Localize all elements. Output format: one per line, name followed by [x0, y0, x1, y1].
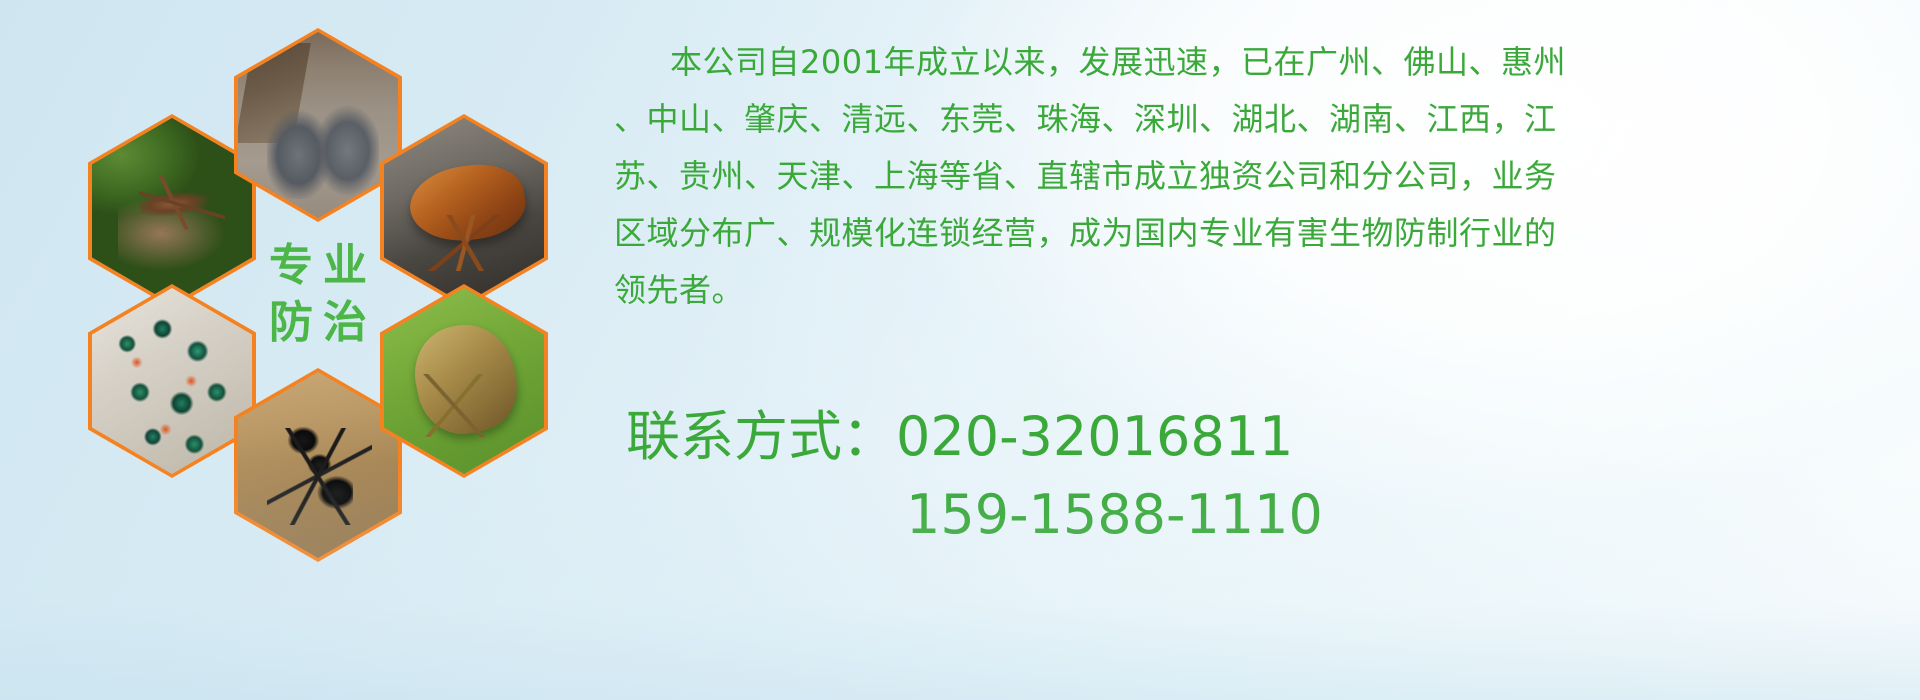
hex-inner: [92, 288, 252, 474]
intro-line-1-text: 本公司自2001年成立以来，发展迅速，已在广州、佛山、惠州: [670, 43, 1566, 81]
rats-icon: [238, 32, 398, 218]
intro-line-5: 领先者。: [614, 262, 1884, 319]
hex-cell-badge: 专业 防治: [234, 198, 402, 392]
contact-primary-phone[interactable]: 联系方式：020-32016811: [626, 398, 1916, 476]
hex-inner: [384, 118, 544, 304]
hex-inner: [238, 372, 398, 558]
promo-banner: 专业 防治 本公司自2001年成立以来，发展迅速，已在广州、佛山、惠州 、中山、…: [0, 0, 1920, 700]
flies-icon: [92, 288, 252, 474]
company-intro: 本公司自2001年成立以来，发展迅速，已在广州、佛山、惠州 、中山、肇庆、清远、…: [614, 34, 1884, 319]
intro-line-4: 区域分布广、规模化连锁经营，成为国内专业有害生物防制行业的: [614, 205, 1884, 262]
badge-line-1: 专业: [259, 241, 377, 292]
hex-inner: [92, 118, 252, 304]
contact-secondary-phone[interactable]: 159-1588-1110: [626, 476, 1916, 554]
hex-inner: 专业 防治: [238, 202, 398, 388]
hex-inner: [384, 288, 544, 474]
intro-line-2: 、中山、肇庆、清远、东莞、珠海、深圳、湖北、湖南、江西，江: [614, 91, 1884, 148]
intro-line-3: 苏、贵州、天津、上海等省、直辖市成立独资公司和分公司，业务: [614, 148, 1884, 205]
hex-cell-mosquito-photo: [88, 114, 256, 308]
stink-bug-icon: [384, 288, 544, 474]
hex-cell-cockroach-photo: [380, 114, 548, 308]
hex-cell-stink-bug-photo: [380, 284, 548, 478]
hexagon-collage: 专业 防治: [88, 6, 588, 566]
cockroach-icon: [384, 118, 544, 304]
intro-line-1: 本公司自2001年成立以来，发展迅速，已在广州、佛山、惠州: [614, 34, 1884, 91]
hex-inner: [238, 32, 398, 218]
ant-icon: [238, 372, 398, 558]
mosquito-icon: [92, 118, 252, 304]
badge-text: 专业 防治: [238, 202, 398, 388]
hex-cell-ant-photo: [234, 368, 402, 562]
hex-cell-flies-photo: [88, 284, 256, 478]
badge-line-2: 防治: [259, 298, 377, 349]
hex-cell-rats-photo: [234, 28, 402, 222]
contact-block: 联系方式：020-32016811 159-1588-1110: [626, 398, 1916, 554]
